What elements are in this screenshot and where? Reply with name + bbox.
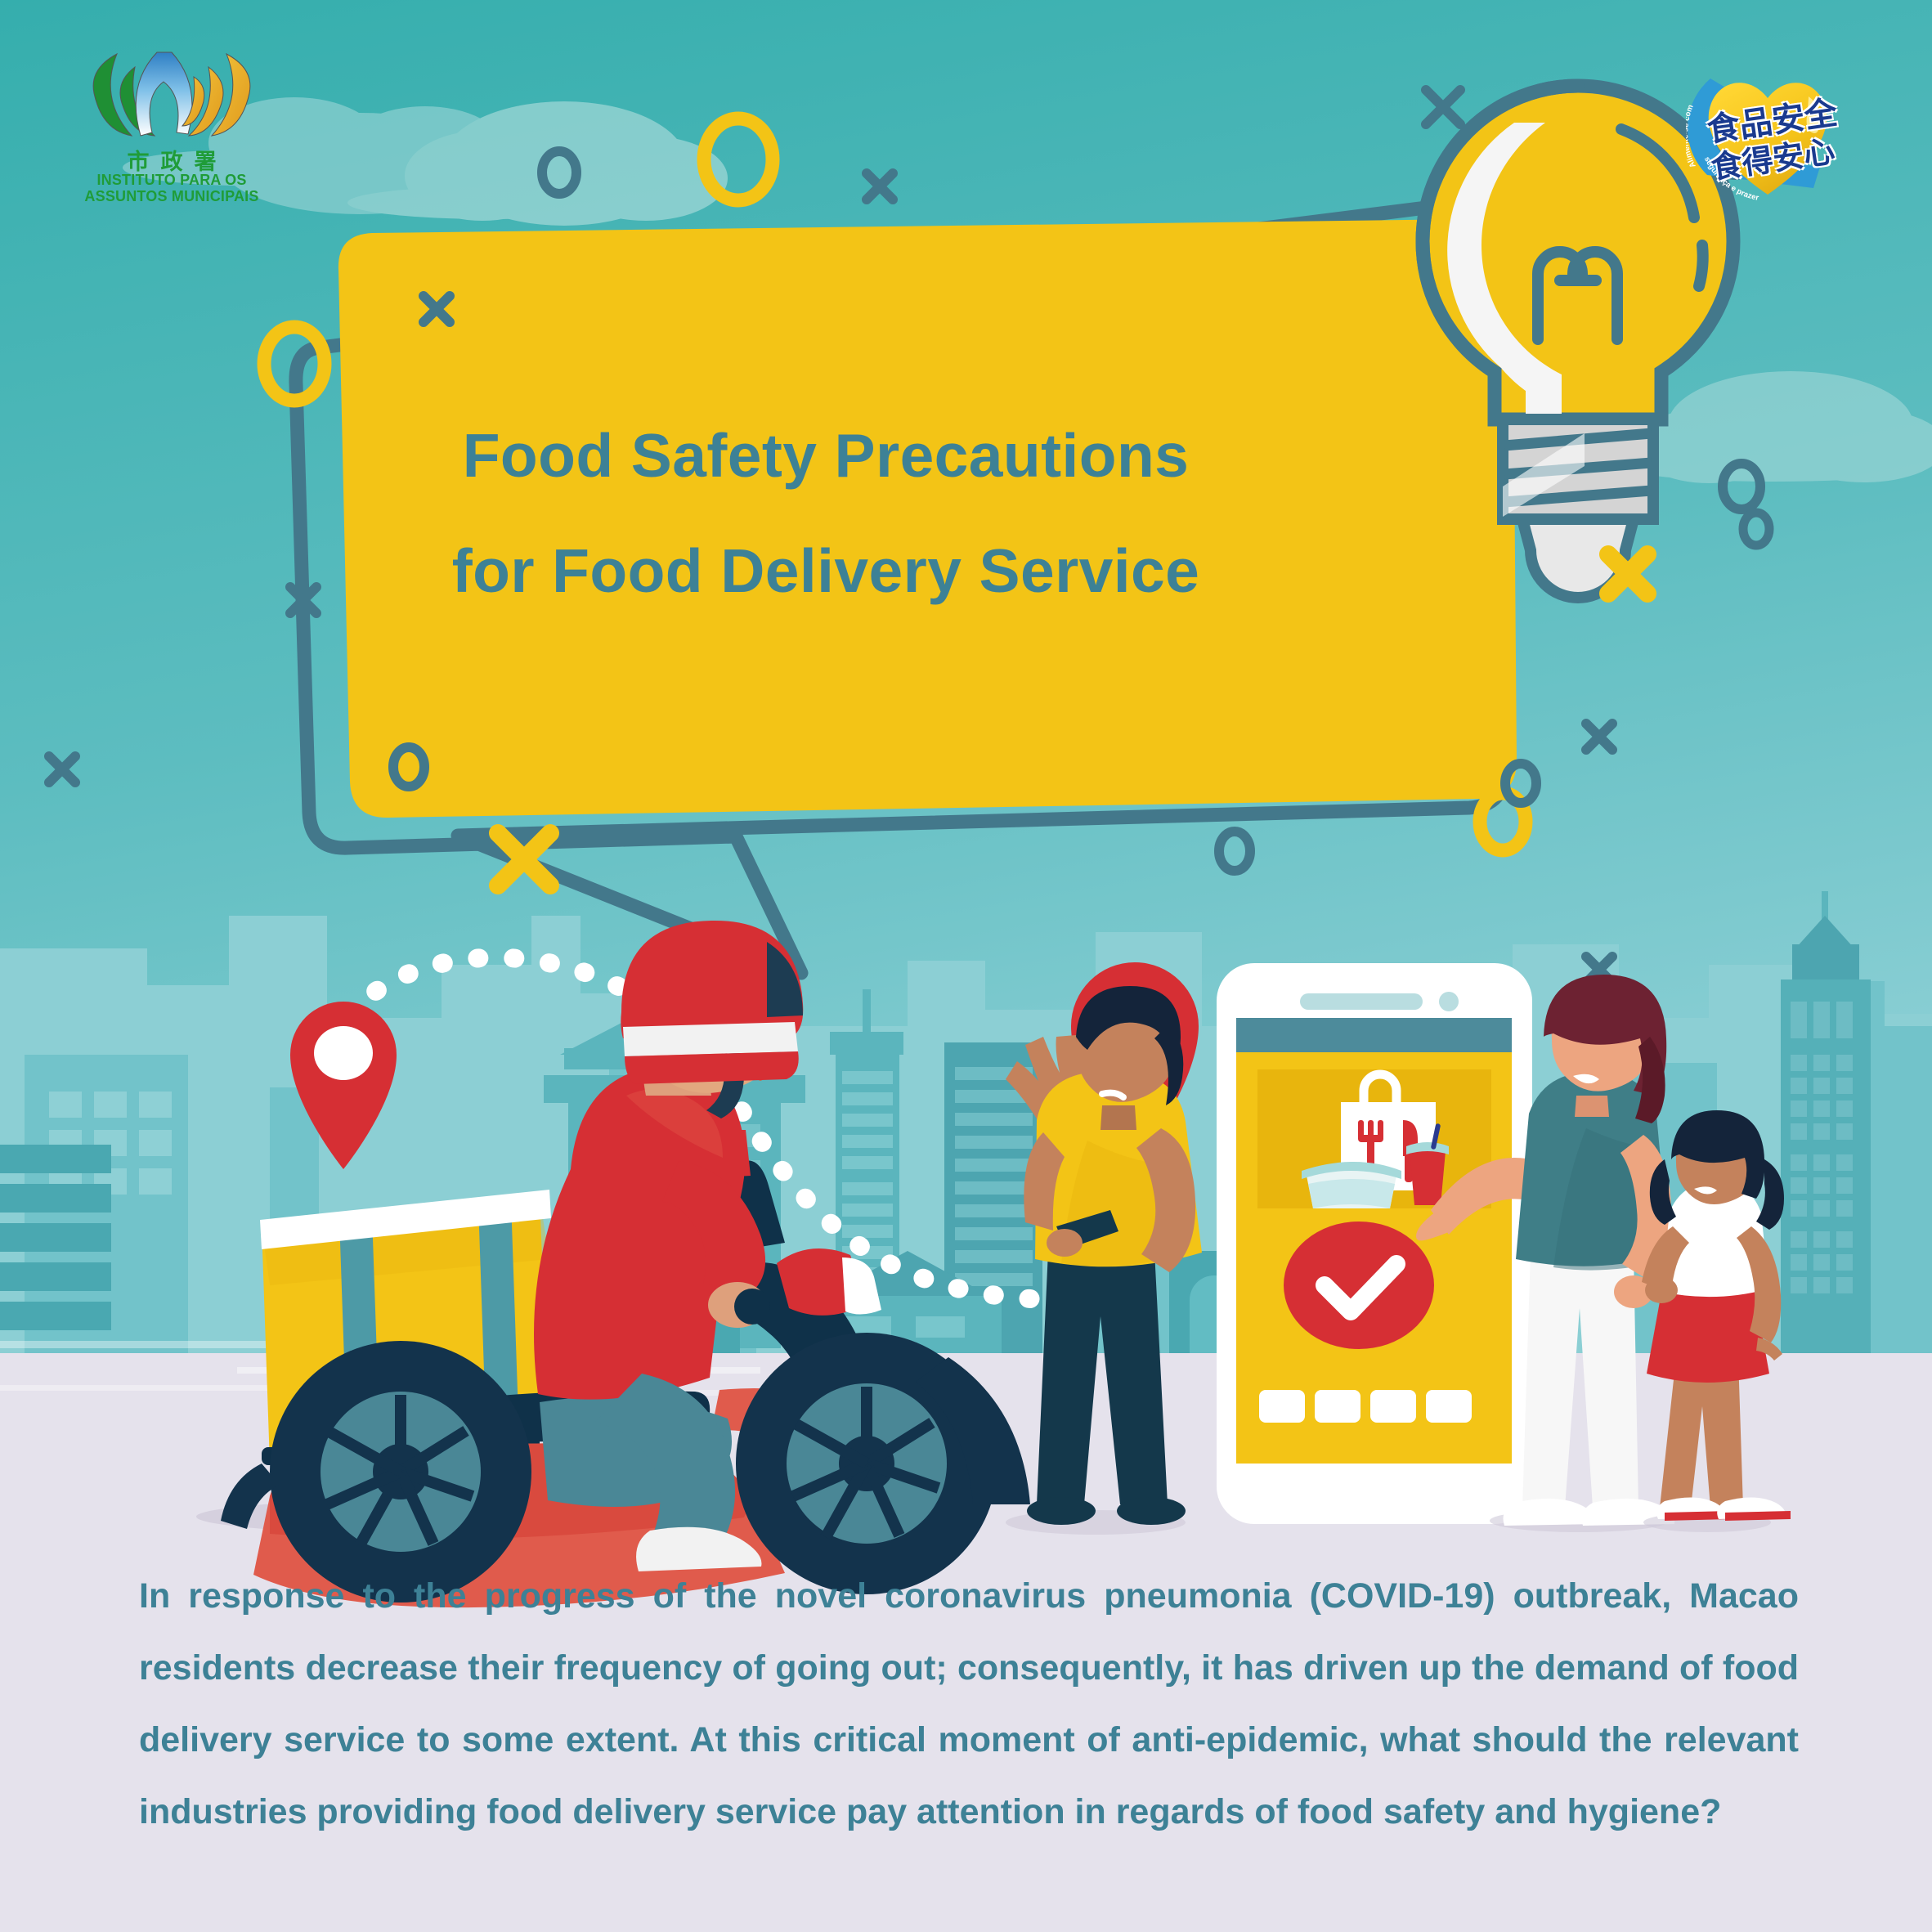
iam-lotus-logo <box>78 39 266 146</box>
smartphone-order-screen <box>1217 963 1532 1524</box>
poster-title: Food Safety Precautions for Food Deliver… <box>392 425 1259 602</box>
poster-body-text: In response to the progress of the novel… <box>139 1560 1799 1849</box>
logo-name-pt: INSTITUTO PARA OS ASSUNTOS MUNICIPAIS <box>78 172 266 204</box>
body-paragraph: In response to the progress of the novel… <box>139 1560 1799 1849</box>
food-safety-badge: Alimente-se com segurança e prazer 食品安全 … <box>1686 49 1849 204</box>
title-line-1: Food Safety Precautions <box>392 425 1259 486</box>
logo-name-pt-line1: INSTITUTO PARA OS <box>78 172 266 188</box>
title-line-2: for Food Delivery Service <box>392 540 1259 602</box>
phone-status-bar <box>1236 1018 1512 1052</box>
logo-name-pt-line2: ASSUNTOS MUNICIPAIS <box>78 188 266 204</box>
takeout-box <box>1302 1162 1401 1208</box>
confirm-check-icon <box>1284 1222 1434 1349</box>
poster-root: 市政署 INSTITUTO PARA OS ASSUNTOS MUNICIPAI… <box>0 0 1932 1932</box>
iam-logo: 市政署 INSTITUTO PARA OS ASSUNTOS MUNICIPAI… <box>78 39 266 203</box>
